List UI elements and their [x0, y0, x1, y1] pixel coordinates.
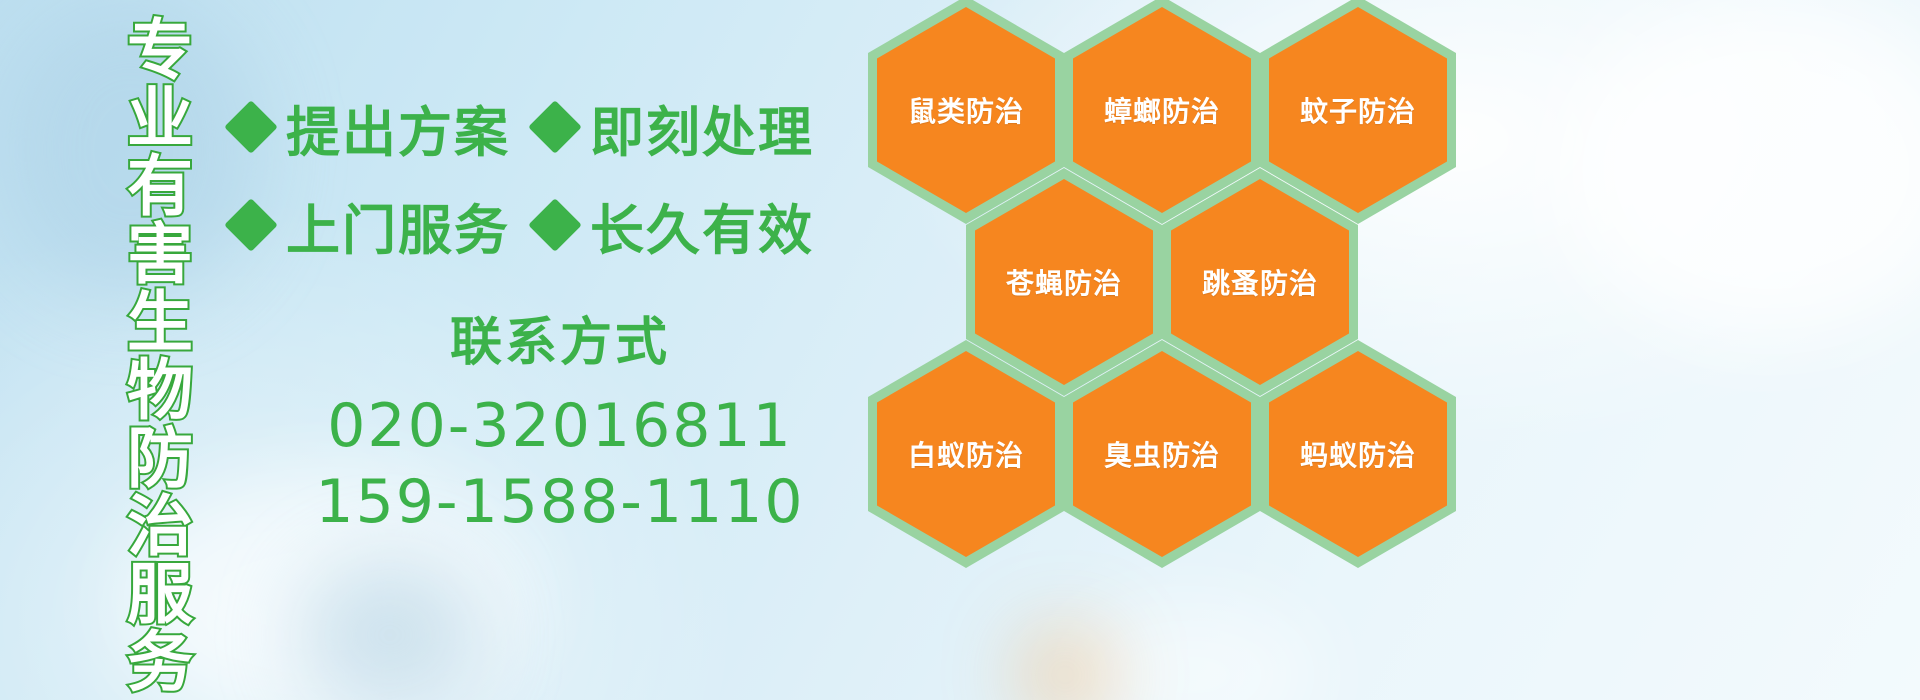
background-blur-blob	[300, 560, 480, 700]
headline-char: 防	[127, 426, 193, 492]
feature-row: 提出方案 即刻处理	[232, 78, 872, 176]
background-blur-blob	[1560, 0, 1920, 340]
diamond-bullet-icon	[528, 100, 582, 154]
feature-item: 即刻处理	[536, 88, 814, 167]
headline-char: 害	[127, 222, 193, 288]
headline-char: 治	[127, 494, 193, 560]
service-label: 蚊子防治	[1300, 90, 1416, 130]
service-label: 臭虫防治	[1104, 434, 1220, 474]
feature-label: 长久有效	[590, 186, 814, 265]
feature-label: 即刻处理	[590, 88, 814, 167]
feature-item: 长久有效	[536, 186, 814, 265]
contact-block: 联系方式 020-32016811 159-1588-1110	[300, 300, 820, 543]
feature-row: 上门服务 长久有效	[232, 176, 872, 274]
feature-item: 上门服务	[232, 186, 510, 265]
phone-number-mobile[interactable]: 159-1588-1110	[300, 467, 820, 537]
phone-number-landline[interactable]: 020-32016811	[300, 391, 820, 461]
diamond-bullet-icon	[224, 100, 278, 154]
diamond-bullet-icon	[224, 198, 278, 252]
service-honeycomb: 鼠类防治 蟑螂防治 蚊子防治 苍蝇防治 跳蚤防治 白蚁防治 臭虫防治 蚂蚁	[862, 0, 1462, 700]
headline-char: 服	[127, 562, 193, 628]
service-label: 白蚁防治	[908, 434, 1024, 474]
headline-char: 有	[127, 154, 193, 220]
diamond-bullet-icon	[528, 198, 582, 252]
headline-char: 物	[127, 358, 193, 424]
service-label: 蚂蚁防治	[1300, 434, 1416, 474]
headline-char: 业	[127, 86, 193, 152]
promo-banner: 专 业 有 害 生 物 防 治 服 务 提出方案 即刻处理 上门服务	[0, 0, 1920, 700]
headline-char: 生	[127, 290, 193, 356]
service-label: 跳蚤防治	[1202, 262, 1318, 302]
contact-title: 联系方式	[300, 300, 820, 375]
feature-item: 提出方案	[232, 88, 510, 167]
feature-label: 上门服务	[286, 186, 510, 265]
headline-char: 务	[127, 630, 193, 696]
vertical-headline: 专 业 有 害 生 物 防 治 服 务	[112, 18, 208, 558]
headline-char: 专	[127, 18, 193, 84]
service-label: 蟑螂防治	[1104, 90, 1220, 130]
feature-label: 提出方案	[286, 88, 510, 167]
service-label: 苍蝇防治	[1006, 262, 1122, 302]
feature-list: 提出方案 即刻处理 上门服务 长久有效	[232, 78, 872, 274]
service-label: 鼠类防治	[908, 90, 1024, 130]
